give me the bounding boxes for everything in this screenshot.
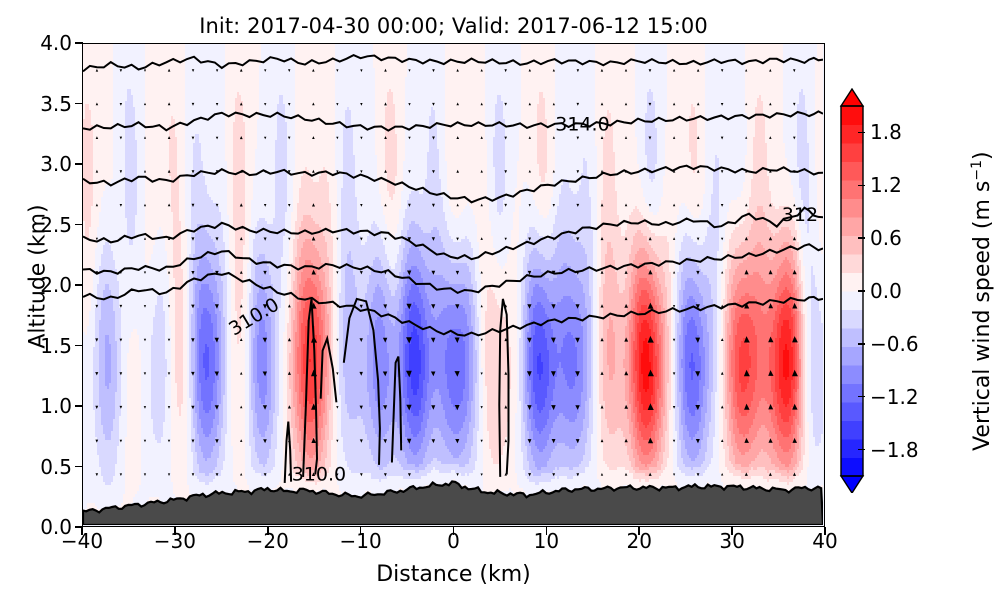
contour-label: 310.0 xyxy=(292,464,346,486)
x-tick-mark xyxy=(638,527,640,535)
x-tick-mark xyxy=(81,527,83,535)
colorbar-tick-label: −1.2 xyxy=(870,387,919,407)
y-tick-mark xyxy=(75,405,83,407)
colorbar-tick-mark xyxy=(858,343,865,344)
y-tick-label: 3.5 xyxy=(0,94,72,114)
colorbar-tick-mark xyxy=(858,449,865,450)
colorbar-tick-label: 1.2 xyxy=(870,175,902,195)
y-tick-mark xyxy=(75,42,83,44)
x-tick-mark xyxy=(267,527,269,535)
contour-label: 312 xyxy=(782,204,818,226)
colorbar-label-exponent: −1 xyxy=(969,160,985,181)
x-axis-label: Distance (km) xyxy=(82,562,825,587)
y-tick-label: 4.0 xyxy=(0,33,72,53)
cross-section-plot: 314.0310.0310.0312 xyxy=(83,44,823,525)
plot-title: Init: 2017-04-30 00:00; Valid: 2017-06-1… xyxy=(82,14,825,38)
colorbar-tick-mark xyxy=(858,185,865,186)
y-tick-label: 0.5 xyxy=(0,457,72,477)
colorbar-tick-mark xyxy=(858,132,865,133)
figure-canvas: Init: 2017-04-30 00:00; Valid: 2017-06-1… xyxy=(0,0,1000,600)
x-tick-mark xyxy=(731,527,733,535)
y-tick-mark xyxy=(75,163,83,165)
colorbar-tick-label: 0.0 xyxy=(870,281,902,301)
colorbar-extend-bottom xyxy=(841,476,863,493)
cross-section-axes[interactable]: 314.0310.0310.0312 xyxy=(82,43,825,527)
y-tick-label: 1.0 xyxy=(0,396,72,416)
y-tick-mark xyxy=(75,224,83,226)
y-tick-mark xyxy=(75,103,83,105)
contour-label: 314.0 xyxy=(555,114,609,136)
x-tick-mark xyxy=(174,527,176,535)
x-tick-mark xyxy=(360,527,362,535)
x-tick-mark xyxy=(453,527,455,535)
colorbar-label-text: Vertical wind speed (m s xyxy=(970,181,995,451)
colorbar-tick-mark xyxy=(858,290,865,291)
colorbar-extend-top xyxy=(841,89,863,106)
y-tick-mark xyxy=(75,345,83,347)
x-tick-mark xyxy=(824,527,826,535)
colorbar-tick-label: −0.6 xyxy=(870,334,919,354)
y-axis-label: Altitude (km) xyxy=(26,157,51,397)
colorbar-tick-label: −1.8 xyxy=(870,440,919,460)
colorbar-tick-mark xyxy=(858,396,865,397)
x-tick-mark xyxy=(546,527,548,535)
colorbar-tick-label: 0.6 xyxy=(870,228,902,248)
colorbar-label: Vertical wind speed (m s−1) xyxy=(969,91,995,511)
colorbar-label-tail: ) xyxy=(970,151,995,160)
y-tick-mark xyxy=(75,466,83,468)
y-tick-mark xyxy=(75,284,83,286)
colorbar-tick-label: 1.8 xyxy=(870,122,902,142)
colorbar-tick-mark xyxy=(858,237,865,238)
